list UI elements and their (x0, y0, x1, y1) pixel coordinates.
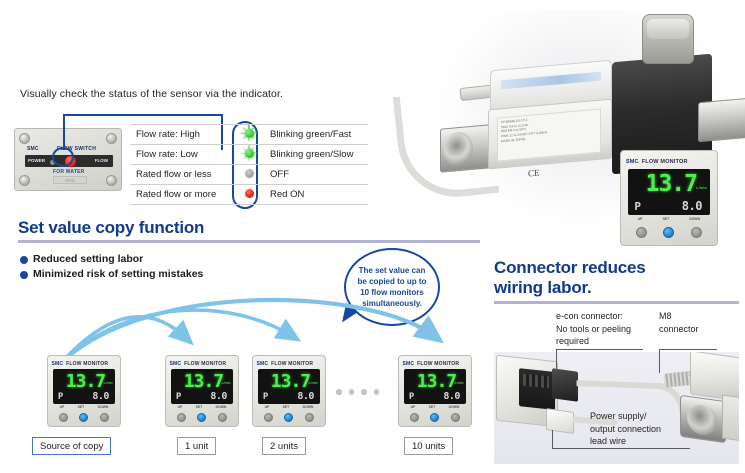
table-row: Flow rate: High Blinking green/Fast (130, 125, 368, 145)
monitor-set-button[interactable] (663, 227, 674, 238)
dot-icon (349, 389, 355, 395)
monitor-main-value: 13.7 (646, 171, 697, 197)
econ-connector-white (546, 408, 574, 434)
monitor-btn-label-set: SET (283, 405, 290, 409)
monitor-up-button[interactable] (177, 413, 186, 422)
m8-connector-label: M8 connector (659, 310, 699, 335)
status-indicator-cell (234, 145, 264, 165)
product-photo-flow-switch: PF3W540-03-1T-Z SMC 0.5 to 4 L/min WATER… (398, 0, 745, 248)
monitor-btn-label-down: DOWN (689, 217, 700, 221)
monitor-btn-label-up: UP (411, 405, 416, 409)
monitor-brand: SMC (626, 159, 639, 165)
status-description: Red ON (264, 185, 368, 205)
status-description: Blinking green/Slow (264, 145, 368, 165)
brochure-page: Visually check the status of the sensor … (0, 0, 745, 473)
monitor-up-button[interactable] (636, 227, 647, 238)
for-water-label: FOR WATER (53, 169, 84, 175)
monitor-btn-label-up: UP (638, 217, 643, 221)
monitor-set-button[interactable] (284, 413, 293, 422)
flow-switch-body-right (690, 352, 739, 402)
monitor-btn-label-up: UP (265, 405, 270, 409)
ce-mark-icon: CE (528, 167, 540, 178)
monitor-screen: 13.7 L/min P 8.0 (171, 369, 233, 404)
monitor-unit: L/min (696, 185, 707, 190)
dot-icon (336, 389, 342, 395)
monitor-title: FLOW MONITOR (271, 361, 313, 367)
screw-icon (19, 175, 30, 186)
econ-label-tick (556, 349, 557, 371)
monitor-btn-label-down: DOWN (216, 405, 227, 409)
monitor-btn-label-down: DOWN (303, 405, 314, 409)
monitor-down-button[interactable] (218, 413, 227, 422)
flow-monitor-unit-2: SMCFLOW MONITOR 13.7 L/min P 8.0 UP SET … (252, 355, 326, 427)
monitor-button-row: UP SET DOWN (628, 214, 710, 241)
monitor-sub-label: P (176, 392, 181, 402)
bullet-icon (20, 256, 28, 264)
outlet-port (698, 98, 745, 143)
monitor-unit: L/min (455, 381, 464, 385)
bullet-icon (20, 271, 28, 279)
econ-label-rule (556, 349, 643, 350)
m8-label-rule (659, 349, 717, 350)
status-condition: Rated flow or less (130, 165, 234, 185)
monitor-up-button[interactable] (264, 413, 273, 422)
monitor-btn-label-up: UP (178, 405, 183, 409)
econ-connector-black (552, 368, 578, 402)
monitor-unit: L/min (104, 381, 113, 385)
monitor-unit: L/min (222, 381, 231, 385)
monitor-set-button[interactable] (430, 413, 439, 422)
caption-source-of-copy: Source of copy (32, 437, 111, 455)
status-indicator-cell (234, 125, 264, 145)
monitor-btn-label-set: SET (663, 217, 670, 221)
panel-brand-label: SMC (27, 146, 39, 152)
status-condition: Flow rate: Low (130, 145, 234, 165)
monitor-sub-value: 8.0 (210, 391, 227, 402)
flow-monitor-unit-1: SMCFLOW MONITOR 13.7 L/min P 8.0 UP SET … (165, 355, 239, 427)
switch-side-block (722, 394, 739, 441)
monitor-title: FLOW MONITOR (184, 361, 226, 367)
monitor-title: FLOW MONITOR (642, 159, 688, 165)
bullet-text: Minimized risk of setting mistakes (33, 267, 203, 282)
screw-icon (19, 133, 30, 144)
monitor-down-button[interactable] (691, 227, 702, 238)
dot-icon (361, 389, 367, 395)
lead-wire-label: Power supply/ output connection lead wir… (590, 410, 661, 448)
intro-text: Visually check the status of the sensor … (20, 88, 283, 100)
monitor-brand: SMC (51, 361, 63, 367)
status-description: OFF (264, 165, 368, 185)
monitor-btn-label-up: UP (60, 405, 65, 409)
table-row: Rated flow or more Red ON (130, 185, 368, 205)
econ-connector-label: e-con connector: No tools or peeling req… (556, 310, 631, 348)
monitor-btn-label-set: SET (78, 405, 85, 409)
monitor-sub-value: 8.0 (443, 391, 460, 402)
table-row: Flow rate: Low Blinking green/Slow (130, 145, 368, 165)
table-row: Rated flow or less OFF (130, 165, 368, 185)
monitor-title: FLOW MONITOR (66, 361, 108, 367)
led-highlight-ring (52, 147, 74, 167)
lead-wire-tick (552, 430, 553, 448)
monitor-title: FLOW MONITOR (417, 361, 459, 367)
green-blinking-slow-icon (241, 145, 257, 161)
status-condition: Flow rate: High (130, 125, 234, 145)
monitor-header: SMC FLOW MONITOR (626, 157, 712, 168)
monitor-btn-label-down: DOWN (98, 405, 109, 409)
monitor-main-value: 13.7 (417, 371, 456, 392)
caption-1-unit: 1 unit (177, 437, 216, 455)
monitor-brand: SMC (402, 361, 414, 367)
monitor-screen: 13.7 L/min P 8.0 (258, 369, 320, 404)
led-off-icon (241, 165, 257, 181)
ellipsis-dots (336, 389, 379, 395)
caption-10-units: 10 units (404, 437, 453, 455)
monitor-down-button[interactable] (100, 413, 109, 422)
led-red-on-icon (241, 185, 257, 201)
status-indicator-cell (234, 165, 264, 185)
monitor-main-value: 13.7 (271, 371, 310, 392)
status-condition: Rated flow or more (130, 185, 234, 205)
panel-code-label: SMC (53, 176, 87, 184)
status-description: Blinking green/Fast (264, 125, 368, 145)
monitor-down-button[interactable] (451, 413, 460, 422)
monitor-up-button[interactable] (59, 413, 68, 422)
flow-monitor-source: SMCFLOW MONITOR 13.7 L/min P 8.0 UP SET … (47, 355, 121, 427)
monitor-sub-label: P (58, 392, 63, 402)
pipe-port-right (680, 395, 726, 443)
flow-label: FLOW (95, 158, 108, 163)
caption-2-units: 2 units (262, 437, 306, 455)
monitor-btn-label-down: DOWN (449, 405, 460, 409)
copy-section-bullets: Reduced setting labor Minimized risk of … (20, 252, 203, 282)
connector-slot (519, 368, 555, 410)
connector-section-rule (494, 301, 739, 304)
flow-monitor-inset: SMC FLOW MONITOR 13.7 L/min P 8.0 UP SET… (620, 150, 718, 246)
copy-section-heading: Set value copy function (18, 218, 204, 238)
power-label: POWER (28, 158, 45, 163)
dot-icon (374, 389, 380, 395)
monitor-main-value: 13.7 (184, 371, 223, 392)
indicator-status-table: Flow rate: High Blinking green/Fast (130, 124, 368, 205)
monitor-sub-value: 8.0 (92, 391, 109, 402)
flow-monitor-unit-10: SMCFLOW MONITOR 13.7 L/min P 8.0 UP SET … (398, 355, 472, 427)
monitor-screen: 13.7 L/min P 8.0 (53, 369, 115, 404)
monitor-set-button[interactable] (79, 413, 88, 422)
monitor-up-button[interactable] (410, 413, 419, 422)
screw-icon (106, 175, 117, 186)
monitor-brand: SMC (169, 361, 181, 367)
monitor-btn-label-set: SET (196, 405, 203, 409)
monitor-brand: SMC (256, 361, 268, 367)
monitor-screen: 13.7 L/min P 8.0 (628, 169, 710, 215)
monitor-main-value: 13.7 (66, 371, 105, 392)
status-indicator-cell (234, 185, 264, 205)
monitor-sub-label: P (409, 392, 414, 402)
monitor-sub-label: P (634, 200, 641, 213)
monitor-screen: 13.7 L/min P 8.0 (404, 369, 466, 404)
monitor-down-button[interactable] (305, 413, 314, 422)
copy-section-rule (18, 240, 480, 243)
connector-heading-line1: Connector reduces (494, 258, 646, 278)
monitor-unit: L/min (309, 381, 318, 385)
adjustment-knob (642, 14, 694, 64)
bullet-text: Reduced setting labor (33, 252, 143, 267)
spec-label: PF3W540-03-1T-Z SMC 0.5 to 4 L/min WATER… (497, 109, 601, 162)
sensor-body-lower: PF3W540-03-1T-Z SMC 0.5 to 4 L/min WATER… (488, 99, 612, 170)
monitor-sub-value: 8.0 (297, 391, 314, 402)
monitor-btn-label-set: SET (429, 405, 436, 409)
m8-label-tick (659, 349, 660, 373)
green-blinking-fast-icon (241, 125, 257, 141)
monitor-set-button[interactable] (197, 413, 206, 422)
connector-heading-line2: wiring labor. (494, 278, 592, 298)
monitor-sub-value: 8.0 (682, 199, 702, 213)
lead-wire-rule (552, 448, 690, 449)
monitor-sub-label: P (263, 392, 268, 402)
